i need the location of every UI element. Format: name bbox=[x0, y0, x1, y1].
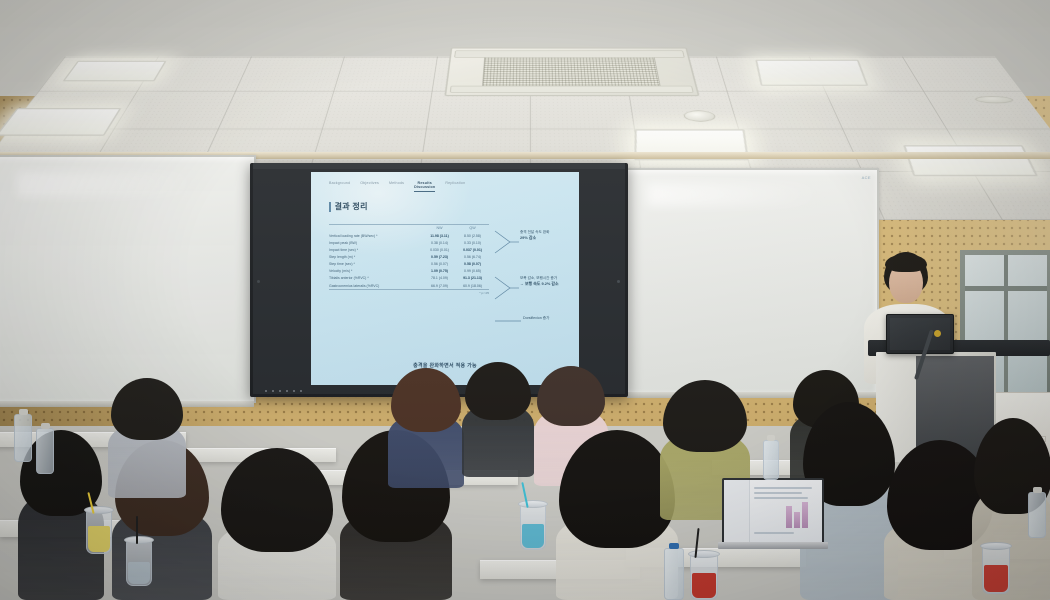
laptop-screen bbox=[722, 478, 824, 546]
whiteboard-right: ACE bbox=[625, 168, 879, 394]
table-row: Velocity (m/s) *1.09 (0.75)0.99 (0.65) bbox=[329, 268, 489, 275]
annotation-dorsiflexion-line1: Dorsiflexion 증가 bbox=[523, 316, 549, 321]
audience-member-4 bbox=[218, 448, 336, 600]
ceiling-air-conditioner bbox=[444, 48, 699, 97]
table-cell-qw: 0.58 (0.07) bbox=[456, 261, 489, 268]
cup-body bbox=[86, 510, 112, 554]
whiteboard-logo: ACE bbox=[862, 175, 871, 180]
table-cell-nw: 66.9 (7.09) bbox=[423, 282, 456, 289]
annotation-dorsiflexion: Dorsiflexion 증가 bbox=[523, 316, 549, 321]
bottle-body bbox=[763, 440, 779, 480]
table-row: Impact peak (BW)0.38 (0.14)0.33 (0.10) bbox=[329, 239, 489, 246]
water-bottle-1 bbox=[14, 414, 32, 462]
cup-body bbox=[520, 504, 546, 550]
slide-nav-item-replication: Replication bbox=[445, 181, 465, 185]
cup-lid bbox=[84, 506, 114, 514]
annotation-brace-icon bbox=[494, 275, 520, 305]
water-bottle-2 bbox=[36, 428, 54, 474]
table-cell-metric: Tibialis anterior (%RVC) * bbox=[329, 275, 423, 282]
table-row: Vertical loading rate (BW/sec) *11.98 (3… bbox=[329, 232, 489, 239]
slide-nav-item-results-discussion: Results Discussion bbox=[414, 181, 435, 192]
table-cell-qw: 60.9 (18.06) bbox=[456, 282, 489, 289]
annotation-gait: 보폭 감소, 보행시간 증가 → 보행 속도 9.2% 감소 bbox=[520, 276, 559, 287]
wall-mounted-display[interactable]: Background Objectives Methods Results Di… bbox=[250, 163, 628, 397]
table-footnote: * p<.05 bbox=[329, 291, 489, 295]
audience-laptop[interactable] bbox=[718, 478, 828, 554]
table-cell-metric: Vertical loading rate (BW/sec) * bbox=[329, 232, 423, 239]
person-hair bbox=[559, 430, 675, 548]
cup-lid bbox=[518, 500, 548, 508]
table-cell-qw: 8.50 (2.58) bbox=[456, 232, 489, 239]
table-cell-qw: 0.56 (6.74) bbox=[456, 254, 489, 261]
lecture-hall-photo: ACE Background Objectives Methods Result… bbox=[0, 0, 1050, 600]
slide-nav: Background Objectives Methods Results Di… bbox=[329, 181, 569, 192]
laptop-screen-chart bbox=[802, 502, 808, 528]
person-hair bbox=[221, 448, 333, 552]
ceiling-light-panel bbox=[903, 145, 1038, 176]
podium-monitor-screen bbox=[890, 318, 950, 350]
audience-member-6 bbox=[388, 368, 464, 488]
person-hair bbox=[111, 378, 183, 440]
display-top-bezel bbox=[253, 163, 625, 169]
laptop-screen-sidebar bbox=[724, 480, 750, 544]
display-ir-sensor-icon bbox=[257, 280, 260, 283]
drink-cup-yellow bbox=[86, 510, 112, 554]
laptop-screen-chart bbox=[786, 506, 792, 528]
presenter-hair-fringe bbox=[885, 254, 927, 272]
table-cell-metric: Impact time (sec) * bbox=[329, 247, 423, 254]
table-cell-qw: 0.037 (0.01) bbox=[456, 247, 489, 254]
laptop-screen-text-line bbox=[754, 532, 794, 534]
cup-drink-fill bbox=[522, 524, 544, 548]
audience-member-3 bbox=[108, 378, 186, 498]
whiteboard-glare bbox=[647, 183, 822, 205]
person-hair bbox=[537, 366, 605, 426]
laptop-screen-chart bbox=[794, 512, 800, 528]
bottle-cap bbox=[767, 435, 775, 441]
bottle-body bbox=[36, 428, 54, 474]
table-cell-nw: 1.09 (0.75) bbox=[423, 268, 456, 275]
slide-title-block: 결과 정리 bbox=[329, 201, 368, 212]
table-row: Gastrocnemius lateralis (%RVC)66.9 (7.09… bbox=[329, 282, 489, 289]
person-hair bbox=[465, 362, 531, 420]
table-cell-qw: 91.3 (21.13) bbox=[456, 275, 489, 282]
microphone-head-icon bbox=[934, 330, 941, 337]
whiteboard-left bbox=[0, 155, 256, 403]
cup-body bbox=[690, 554, 718, 600]
display-control-buttons[interactable] bbox=[265, 390, 302, 392]
table-col-nw: NW bbox=[423, 225, 456, 233]
cup-drink-fill bbox=[88, 526, 110, 552]
table-cell-nw: 0.56 (0.07) bbox=[423, 261, 456, 268]
table-cell-metric: Gastrocnemius lateralis (%RVC) bbox=[329, 282, 423, 289]
table-cell-nw: 0.030 (0.01) bbox=[423, 247, 456, 254]
annotation-gait-line2: → 보행 속도 9.2% 감소 bbox=[520, 281, 559, 287]
slide-nav-item-objectives: Objectives bbox=[360, 181, 379, 185]
table-cell-nw: 78.1 (4.09) bbox=[423, 275, 456, 282]
annotation-impact-line2: 29% 감소 bbox=[520, 235, 549, 241]
air-conditioner-vent bbox=[454, 51, 685, 58]
cup-body bbox=[126, 540, 152, 586]
drink-cup-clear bbox=[126, 540, 152, 586]
person-hair bbox=[391, 368, 461, 432]
audience-member-7 bbox=[462, 362, 534, 477]
table-col-metric bbox=[329, 225, 423, 233]
table-bottom-rule bbox=[329, 289, 489, 290]
window-mullion bbox=[1004, 255, 1008, 405]
table-row: Impact time (sec) *0.030 (0.01)0.037 (0.… bbox=[329, 247, 489, 254]
bottle-body bbox=[14, 414, 32, 462]
drink-cup-red-2 bbox=[982, 546, 1010, 594]
bottle-body bbox=[1028, 492, 1046, 538]
cup-lid bbox=[124, 536, 154, 544]
table-header: NW QW bbox=[329, 225, 489, 233]
cup-lid bbox=[980, 542, 1012, 550]
table-top-rule bbox=[329, 224, 489, 225]
laptop-screen-text-line bbox=[754, 497, 808, 499]
table-cell-qw: 0.99 (0.65) bbox=[456, 268, 489, 275]
person-hair bbox=[663, 380, 747, 452]
cup-drink-fill bbox=[692, 573, 716, 598]
slide-nav-item-methods: Methods bbox=[389, 181, 404, 185]
annotation-line-icon bbox=[494, 318, 522, 324]
laptop-keyboard-base[interactable] bbox=[718, 542, 828, 549]
ceiling-light-panel bbox=[63, 61, 167, 82]
table-cell-metric: Velocity (m/s) * bbox=[329, 268, 423, 275]
table-row: Step length (m) *0.59 (7.23)0.56 (6.74) bbox=[329, 254, 489, 261]
cup-drink-fill bbox=[984, 565, 1008, 592]
presentation-slide: Background Objectives Methods Results Di… bbox=[311, 172, 579, 385]
display-ir-sensor-icon bbox=[617, 280, 620, 283]
water-bottle-3 bbox=[664, 548, 684, 600]
results-table: NW QW Vertical loading rate (BW/sec) *11… bbox=[329, 224, 489, 295]
bottle-body bbox=[664, 548, 684, 600]
table-cell-metric: Step time (sec) * bbox=[329, 261, 423, 268]
bottle-cap bbox=[1033, 487, 1042, 493]
slide-title: 결과 정리 bbox=[335, 201, 368, 212]
ceiling-light-panel bbox=[755, 60, 868, 86]
slide-title-accent-bar bbox=[329, 202, 331, 212]
bottle-cap bbox=[19, 409, 28, 415]
annotation-brace-icon bbox=[494, 229, 520, 259]
table-cell-metric: Impact peak (BW) bbox=[329, 239, 423, 246]
table-row: Tibialis anterior (%RVC) *78.1 (4.09)91.… bbox=[329, 275, 489, 282]
cup-lid bbox=[688, 550, 720, 558]
podium-monitor bbox=[886, 314, 954, 354]
drinking-straw bbox=[136, 516, 138, 544]
cup-body bbox=[982, 546, 1010, 594]
water-bottle-4 bbox=[763, 440, 779, 480]
table-cell-metric: Step length (m) * bbox=[329, 254, 423, 261]
laptop-screen-text-line bbox=[754, 487, 812, 489]
table-cell-qw: 0.33 (0.10) bbox=[456, 239, 489, 246]
table-cell-nw: 11.98 (3.11) bbox=[423, 232, 456, 239]
drink-cup-blue bbox=[520, 504, 546, 550]
ceiling-light-panel bbox=[0, 108, 121, 136]
table-row: Step time (sec) *0.56 (0.07)0.58 (0.07) bbox=[329, 261, 489, 268]
table-body: Vertical loading rate (BW/sec) *11.98 (3… bbox=[329, 232, 489, 289]
whiteboard-glare bbox=[17, 172, 198, 196]
air-conditioner-grille bbox=[482, 55, 661, 88]
bottle-cap bbox=[41, 423, 50, 429]
cup-drink-fill bbox=[128, 562, 150, 584]
annotation-impact: 충격 전달 속도 완화 29% 감소 bbox=[520, 230, 549, 241]
laptop-screen-text-line bbox=[754, 492, 802, 494]
table-cell-nw: 0.38 (0.14) bbox=[423, 239, 456, 246]
table-cell-nw: 0.59 (7.23) bbox=[423, 254, 456, 261]
air-conditioner-vent bbox=[450, 86, 694, 93]
drink-cup-red bbox=[690, 554, 718, 600]
bottle-cap bbox=[669, 543, 679, 549]
table-col-qw: QW bbox=[456, 225, 489, 233]
slide-nav-item-background: Background bbox=[329, 181, 350, 185]
water-bottle-5 bbox=[1028, 492, 1046, 538]
